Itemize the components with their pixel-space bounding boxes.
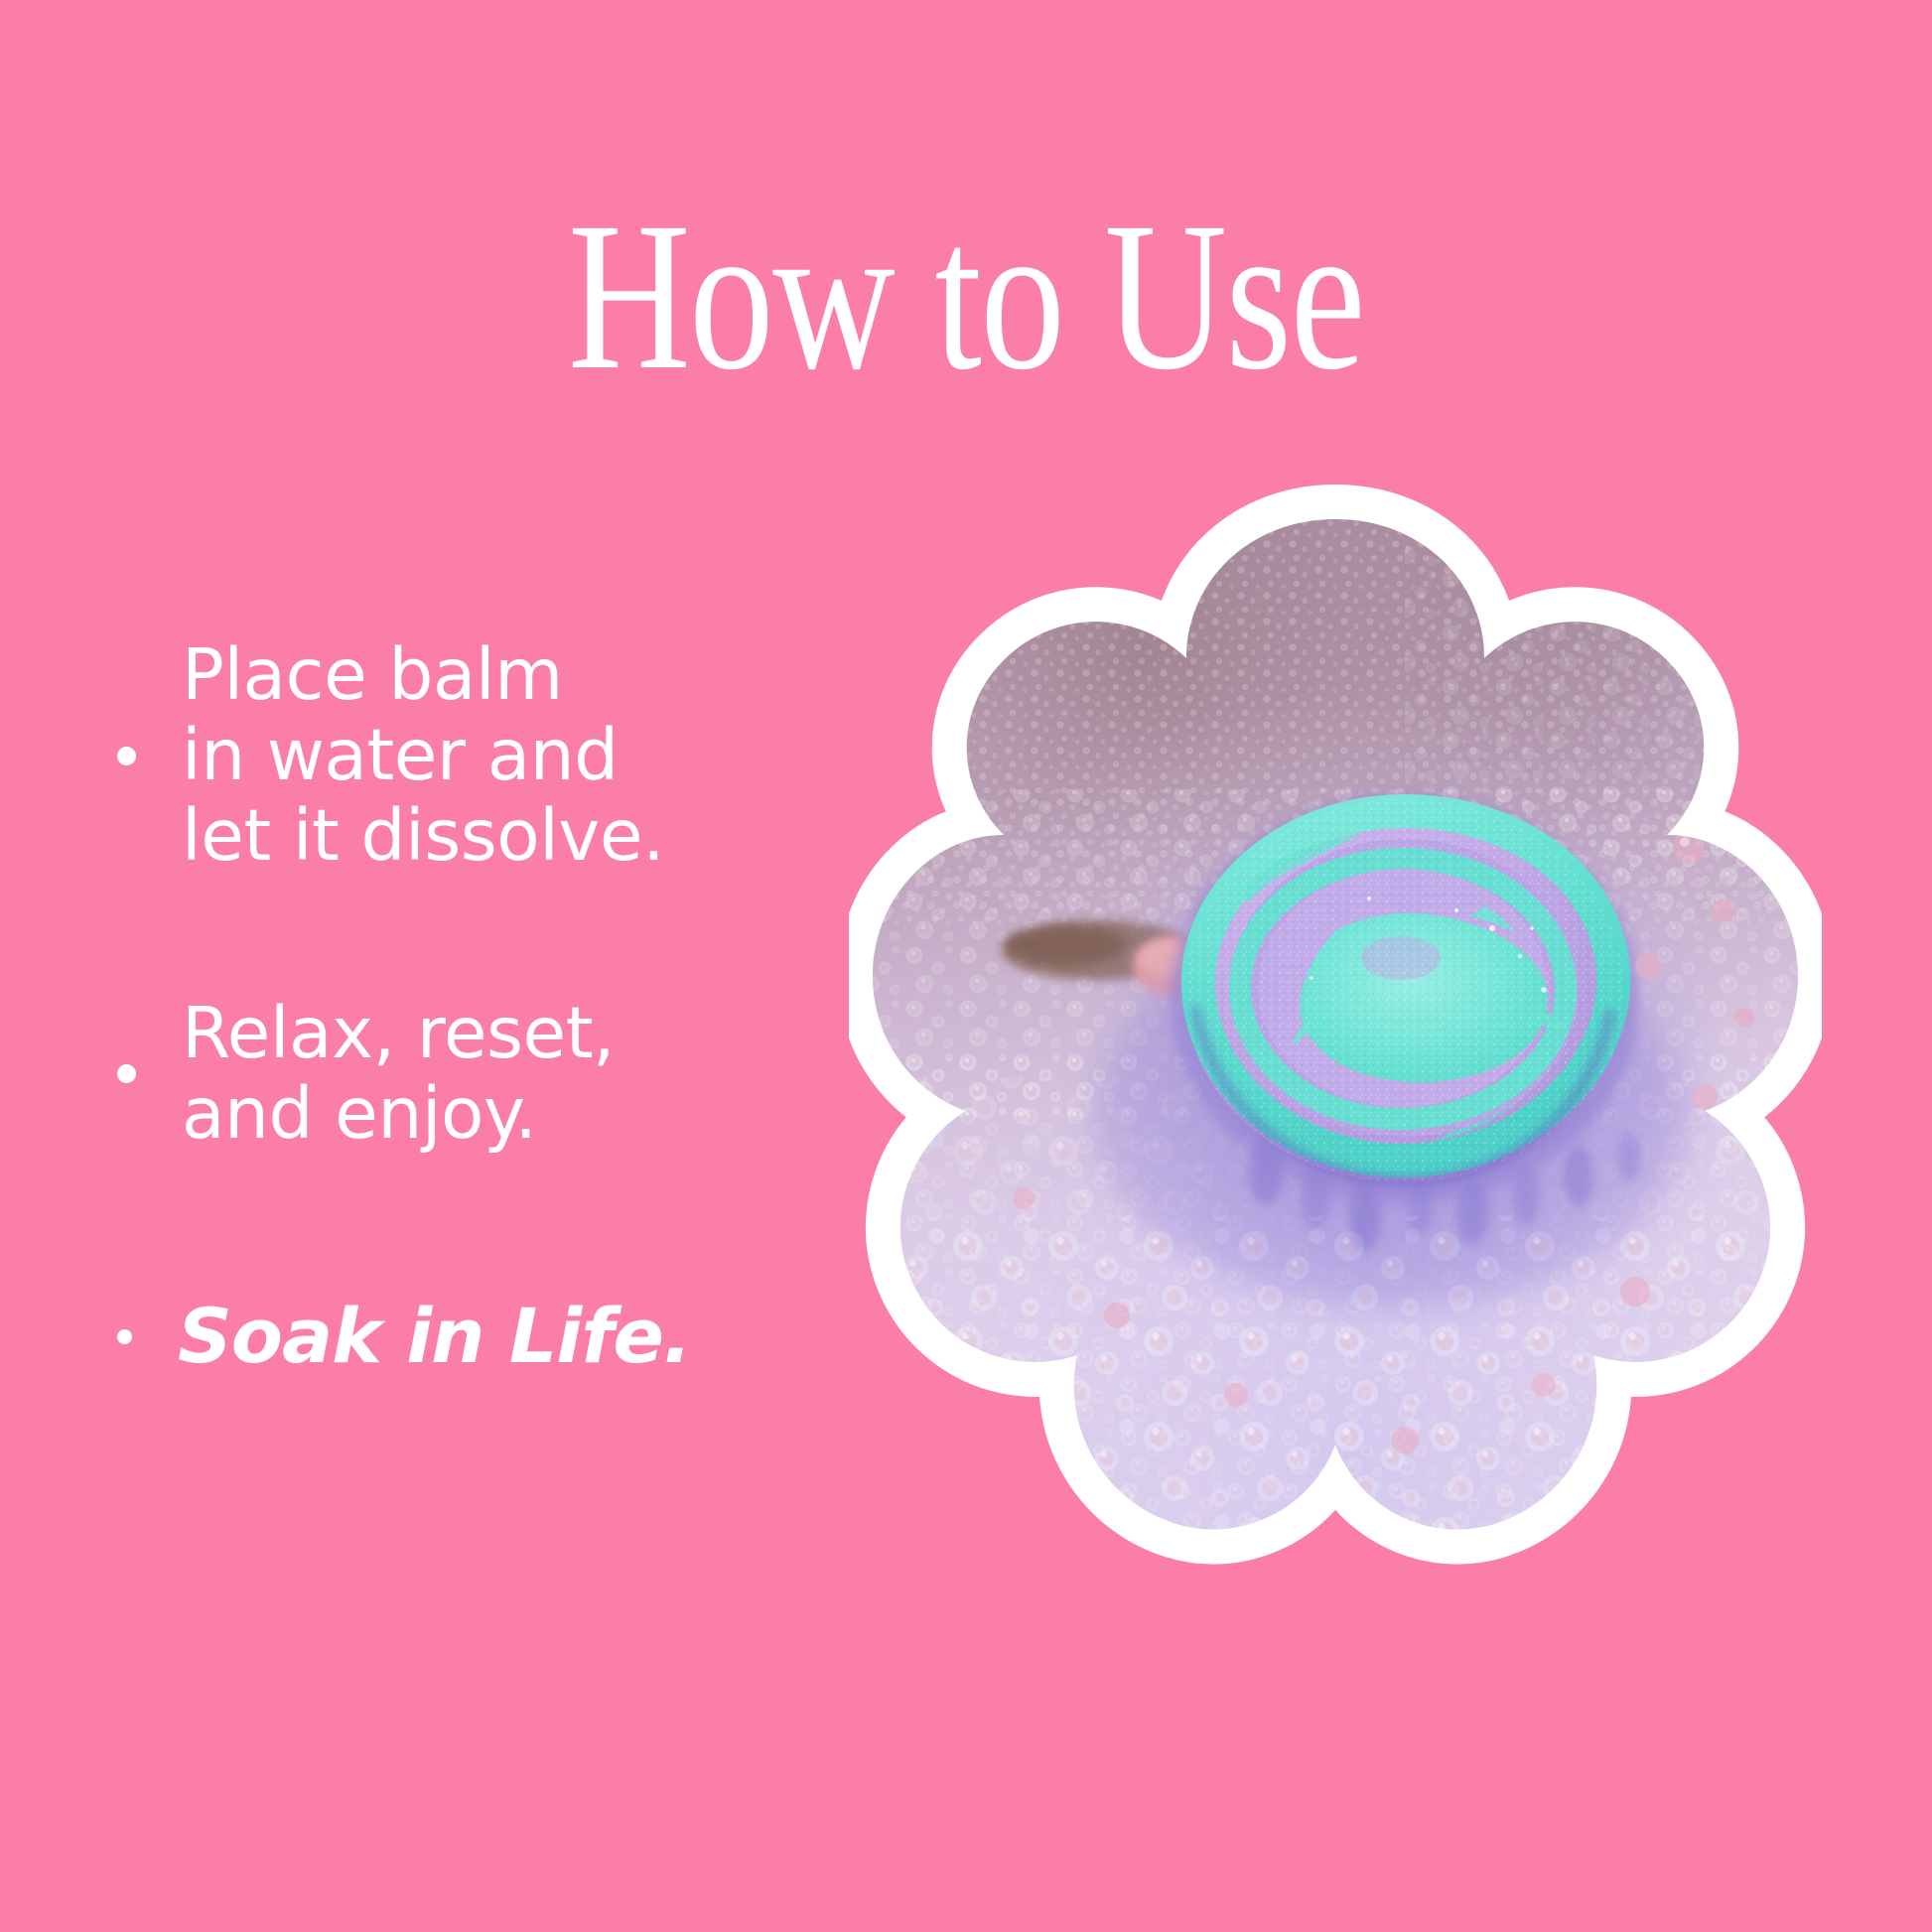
list-item-line: let it dissolve. bbox=[182, 796, 664, 877]
bullet-dot-icon bbox=[117, 747, 136, 765]
bullet-dot-icon bbox=[117, 1064, 136, 1083]
list-item-line: and enjoy. bbox=[182, 1074, 615, 1155]
flower-photo-svg bbox=[849, 462, 1822, 1603]
poster-canvas: How to Use Place balm in water and let i… bbox=[0, 0, 1932, 1932]
list-item: Relax, reset, and enjoy. bbox=[117, 994, 872, 1155]
list-item-line: Soak in Life. bbox=[178, 1294, 691, 1380]
list-item-line: Relax, reset, bbox=[182, 994, 615, 1074]
list-item-line: Place balm bbox=[182, 635, 664, 716]
instruction-list: Place balm in water and let it dissolve.… bbox=[117, 635, 872, 1379]
list-item-line: in water and bbox=[182, 716, 664, 796]
flower-framed-bath-bomb-photo bbox=[849, 462, 1822, 1603]
list-item-text: Soak in Life. bbox=[178, 1294, 691, 1380]
bullet-dot-icon bbox=[117, 1329, 132, 1344]
list-item: Place balm in water and let it dissolve. bbox=[117, 635, 872, 877]
list-item-text: Relax, reset, and enjoy. bbox=[182, 994, 615, 1155]
page-title: How to Use bbox=[194, 191, 1739, 403]
list-item-text: Place balm in water and let it dissolve. bbox=[182, 635, 664, 877]
list-item: Soak in Life. bbox=[117, 1294, 872, 1380]
